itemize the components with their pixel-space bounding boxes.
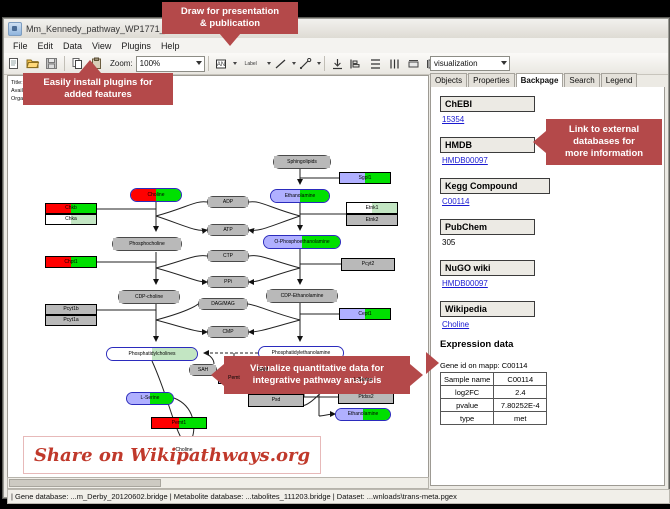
menu-bar: File Edit Data View Plugins Help: [4, 38, 668, 54]
toolbar-separator-2: [208, 56, 209, 71]
new-file-icon[interactable]: [5, 55, 22, 72]
callout-draw-arrow-icon: [219, 33, 241, 46]
metabolite-choline-top[interactable]: Choline: [130, 188, 182, 202]
svg-text:AN: AN: [217, 62, 225, 68]
node-label: Chkb: [65, 206, 77, 211]
metabolite-phosphatidylcholines[interactable]: Phosphatidylcholines: [106, 347, 198, 361]
menu-data[interactable]: Data: [58, 41, 87, 51]
callout-plugins-arrow-icon: [79, 60, 101, 73]
screenshot-root: Mm_Kennedy_pathway_WP1771_45176.gpml Fil…: [0, 0, 670, 509]
gene-pcyt1b[interactable]: Pcyt1b: [45, 304, 97, 315]
node-label: Ethanolamine: [348, 412, 379, 417]
node-label: Sgpl1: [359, 176, 372, 181]
side-tabstrip: Objects Properties Backpage Search Legen…: [430, 73, 665, 88]
table-row: pvalue 7.80252E-4: [441, 399, 547, 412]
gene-cept1[interactable]: Cept1: [339, 308, 391, 320]
metabolite-ctp[interactable]: CTP: [207, 250, 249, 262]
node-label: Psd: [272, 398, 281, 403]
gene-chka[interactable]: Chka: [45, 214, 97, 225]
chevron-down-icon: [196, 61, 202, 65]
line-icon[interactable]: [272, 55, 289, 72]
node-label: Etnk2: [366, 218, 379, 223]
metabolite-ethanolamine1[interactable]: Ethanolamine: [270, 189, 330, 203]
gene-pcyt2[interactable]: Pcyt2: [341, 258, 395, 271]
callout-plugins-line2: added features: [64, 89, 132, 101]
align-top-icon[interactable]: [329, 55, 346, 72]
zoom-value: 100%: [140, 59, 160, 68]
metabolite-atp[interactable]: ATP: [207, 224, 249, 236]
chevron-down-icon-line[interactable]: [292, 62, 296, 65]
metabolite-ethanolamine2[interactable]: Ethanolamine: [335, 408, 391, 421]
callout-visualize: Visualize quantitative data for integrat…: [224, 356, 410, 394]
cell-value-pvalue: 7.80252E-4: [494, 399, 547, 412]
gene-id-line: Gene id on mapp: C00114: [440, 361, 664, 370]
node-label: Chpt1: [64, 260, 77, 265]
tab-search[interactable]: Search: [564, 73, 599, 87]
menu-view[interactable]: View: [87, 41, 116, 51]
gene-etnk1[interactable]: Etnk1: [346, 202, 398, 214]
callout-visualize-arrow-left-icon: [211, 364, 224, 386]
share-banner-text: Share on Wikipathways.org: [34, 445, 310, 466]
metabolite-cdp-choline[interactable]: CDP-choline: [118, 290, 180, 304]
chevron-down-icon-label[interactable]: [267, 62, 271, 65]
callout-link-line2: databases for: [573, 136, 635, 148]
callout-plugins: Easily install plugins for added feature…: [23, 73, 173, 105]
node-label: Etnk1: [366, 206, 379, 211]
section-link-kegg[interactable]: C00114: [442, 197, 664, 206]
label-icon-text: Label: [245, 61, 257, 67]
menu-help[interactable]: Help: [156, 41, 185, 51]
gene-chpt1[interactable]: Chpt1: [45, 256, 97, 268]
node-label: PPi: [224, 280, 232, 285]
table-row: type met: [441, 412, 547, 425]
cell-value-sample: C00114: [494, 373, 547, 386]
section-link-nugo[interactable]: HMDB00097: [442, 279, 664, 288]
node-label: L-Serine: [354, 378, 373, 383]
cell-label-log2fc: log2FC: [441, 386, 494, 399]
callout-visualize-line1: Visualize quantitative data for: [250, 363, 384, 375]
table-row: log2FC 2.4: [441, 386, 547, 399]
metabolite-ophosphoethanolamine[interactable]: O-Phosphoethanolamine: [263, 235, 341, 249]
metabolite-cdp-ethanolamine[interactable]: CDP-Ethanolamine: [266, 289, 338, 303]
canvas-horizontal-scrollbar[interactable]: [7, 477, 429, 489]
metabolite-sphingolipids[interactable]: Sphingolipids: [273, 155, 331, 169]
title-bar: Mm_Kennedy_pathway_WP1771_45176.gpml: [4, 19, 668, 39]
node-label: CMP: [222, 330, 233, 335]
metabolite-adp[interactable]: ADP: [207, 196, 249, 208]
menu-plugins[interactable]: Plugins: [116, 41, 156, 51]
section-header-kegg: Kegg Compound: [440, 178, 550, 194]
datanode-icon[interactable]: AN: [213, 55, 230, 72]
callout-link-line1: Link to external: [569, 124, 639, 136]
expression-table: Sample name C00114 log2FC 2.4 pvalue 7.8…: [440, 372, 547, 425]
share-banner: Share on Wikipathways.org: [23, 436, 321, 474]
section-header-chebi: ChEBI: [440, 96, 535, 112]
node-label: Pemt: [228, 376, 240, 381]
gene-pemt1[interactable]: Pemt1: [151, 417, 207, 429]
open-file-icon[interactable]: [24, 55, 41, 72]
node-label: Pcyt1b: [63, 307, 78, 312]
node-label: L-Serine: [141, 396, 160, 401]
node-label: SAH: [198, 368, 208, 373]
node-label: ADP: [223, 200, 233, 205]
pathway-canvas[interactable]: Title: Availa Organi: [7, 75, 429, 489]
expression-data-title: Expression data: [440, 339, 664, 350]
section-header-pubchem: PubChem: [440, 219, 535, 235]
tab-backpage[interactable]: Backpage: [516, 73, 564, 88]
toolbar-separator-3: [324, 56, 325, 71]
callout-plugins-line1: Easily install plugins for: [43, 77, 152, 89]
node-label: Phosphatidylcholines: [129, 352, 176, 357]
chevron-down-icon-interaction[interactable]: [317, 62, 321, 65]
menu-file[interactable]: File: [8, 41, 33, 51]
zoom-label: Zoom:: [110, 59, 133, 68]
node-label: CDP-choline: [135, 295, 163, 300]
align-left-icon[interactable]: [348, 55, 365, 72]
save-file-icon[interactable]: [43, 55, 60, 72]
callout-link-arrow-icon: [533, 131, 546, 153]
metabolite-ppi[interactable]: PPi: [207, 276, 249, 288]
callout-visualize-arrow-right-icon: [410, 364, 423, 386]
node-label: Chka: [65, 217, 77, 222]
chevron-down-icon-visualization: [501, 61, 507, 65]
tab-legend[interactable]: Legend: [601, 73, 638, 87]
node-label: SAM: [258, 368, 269, 373]
node-label: Cept1: [358, 312, 371, 317]
interaction-icon[interactable]: [297, 55, 314, 72]
gene-etnk2[interactable]: Etnk2: [346, 214, 398, 226]
metabolite-dag-mag[interactable]: DAG/MAG: [198, 298, 248, 310]
table-row: Sample name C00114: [441, 373, 547, 386]
callout-expression-arrow-icon: [426, 352, 439, 374]
callout-draw: Draw for presentation & publication: [162, 2, 298, 34]
callout-draw-line1: Draw for presentation: [181, 6, 279, 18]
section-header-wikipedia: Wikipedia: [440, 301, 535, 317]
visualization-select[interactable]: visualization: [430, 56, 510, 71]
metabolite-cmp[interactable]: CMP: [207, 326, 249, 338]
node-label: Pcyt2: [362, 262, 375, 267]
node-label: O-Phosphoethanolamine: [274, 240, 329, 245]
distribute-horizontal-icon[interactable]: [386, 55, 403, 72]
cell-label-pvalue: pvalue: [441, 399, 494, 412]
callout-link-line3: more information: [565, 148, 643, 160]
same-width-icon[interactable]: [405, 55, 422, 72]
node-label: CTP: [223, 254, 233, 259]
menu-edit[interactable]: Edit: [33, 41, 59, 51]
node-label: ATP: [223, 228, 232, 233]
metabolite-phosphocholine[interactable]: Phosphocholine: [112, 237, 182, 251]
node-label: Phosphatidylethanolamine: [272, 351, 331, 356]
section-header-nugo: NuGO wiki: [440, 260, 535, 276]
gene-pcyt1a[interactable]: Pcyt1a: [45, 315, 97, 326]
cell-value-type: met: [494, 412, 547, 425]
section-value-pubchem: 305: [442, 238, 664, 247]
distribute-vertical-icon[interactable]: [367, 55, 384, 72]
node-label: Ptdss2: [358, 395, 373, 400]
gene-sgpl1[interactable]: Sgpl1: [339, 172, 391, 184]
label-icon[interactable]: Label: [238, 55, 264, 72]
metabolite-l-serine-left[interactable]: L-Serine: [126, 392, 174, 405]
section-header-hmdb: HMDB: [440, 137, 535, 153]
chevron-down-icon-datanode[interactable]: [233, 62, 237, 65]
node-label: Ethanolamine: [285, 194, 316, 199]
node-label: Sphingolipids: [287, 160, 317, 165]
cell-label-sample: Sample name: [441, 373, 494, 386]
gene-psd[interactable]: Psd: [248, 394, 304, 407]
node-label: DAG/MAG: [211, 302, 235, 307]
toolbar-separator: [64, 56, 65, 71]
app-icon: [8, 22, 22, 36]
callout-draw-line2: & publication: [200, 18, 260, 30]
node-label: Choline: [176, 448, 193, 453]
scrollbar-thumb[interactable]: [9, 479, 161, 487]
node-label: Choline: [148, 193, 165, 198]
zoom-select[interactable]: 100%: [136, 56, 205, 72]
node-label: Pcyt1a: [63, 318, 78, 323]
callout-link: Link to external databases for more info…: [546, 119, 662, 165]
status-bar-text: | Gene database: ...m_Derby_20120602.bri…: [11, 492, 457, 501]
tab-properties[interactable]: Properties: [468, 73, 514, 87]
node-label: Pemt1: [172, 421, 186, 426]
gene-chkb[interactable]: Chkb: [45, 203, 97, 214]
cell-value-log2fc: 2.4: [494, 386, 547, 399]
cell-label-type: type: [441, 412, 494, 425]
status-bar: | Gene database: ...m_Derby_20120602.bri…: [7, 489, 670, 504]
tab-objects[interactable]: Objects: [430, 73, 467, 87]
node-label: CDP-Ethanolamine: [281, 294, 324, 299]
node-label: Phosphocholine: [129, 242, 165, 247]
section-link-wikipedia[interactable]: Choline: [442, 320, 664, 329]
visualization-select-value: visualization: [434, 59, 478, 68]
